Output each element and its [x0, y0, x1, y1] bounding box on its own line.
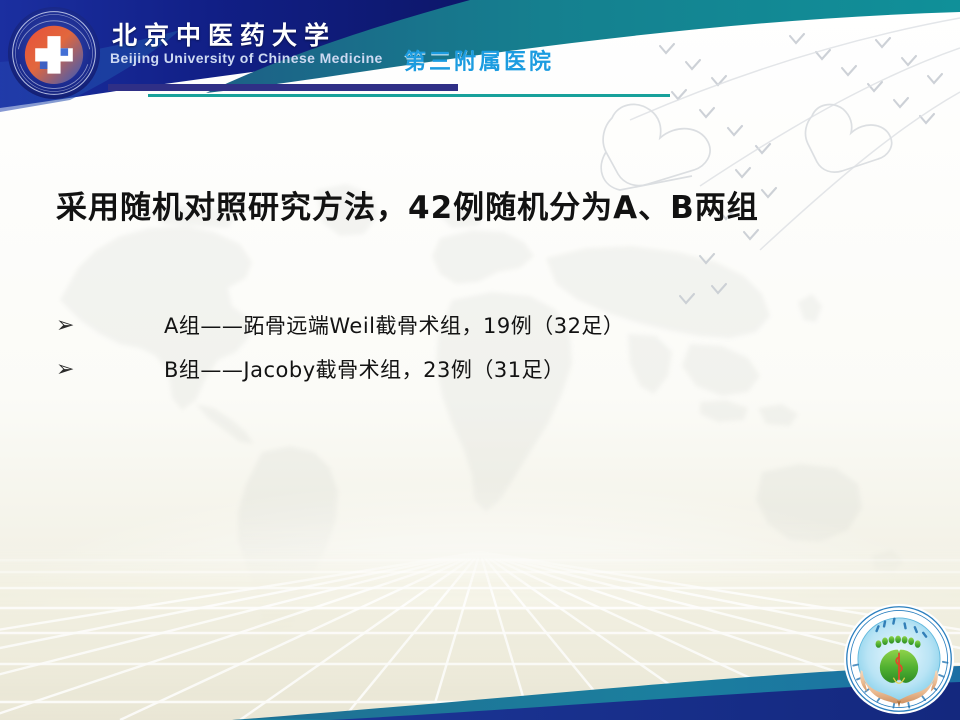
university-seal-icon [7, 6, 101, 100]
slide-canvas: 北京中医药大学 Beijing University of Chinese Me… [0, 0, 960, 720]
hand-foot-orthopedics-logo-icon [843, 603, 955, 715]
slide-footer [0, 640, 960, 720]
list-item: ➢ B组——Jacoby截骨术组，23例（31足） [56, 354, 936, 398]
arrow-bullet-icon: ➢ [56, 310, 78, 342]
footer-banner-shape [0, 640, 960, 720]
horizon-glow [0, 430, 960, 610]
list-item-label: B组——Jacoby截骨术组，23例（31足） [164, 354, 565, 386]
arrow-bullet-icon: ➢ [56, 354, 78, 386]
slide-header: 北京中医药大学 Beijing University of Chinese Me… [0, 0, 960, 110]
header-rule-navy [108, 84, 458, 91]
page-title: 采用随机对照研究方法，42例随机分为A、B两组 [56, 188, 940, 228]
list-item-label: A组——跖骨远端Weil截骨术组，19例（32足） [164, 310, 624, 342]
header-rule-teal [148, 94, 670, 97]
list-item: ➢ A组——跖骨远端Weil截骨术组，19例（32足） [56, 310, 936, 354]
bullet-list: ➢ A组——跖骨远端Weil截骨术组，19例（32足） ➢ B组——Jacoby… [56, 310, 936, 398]
